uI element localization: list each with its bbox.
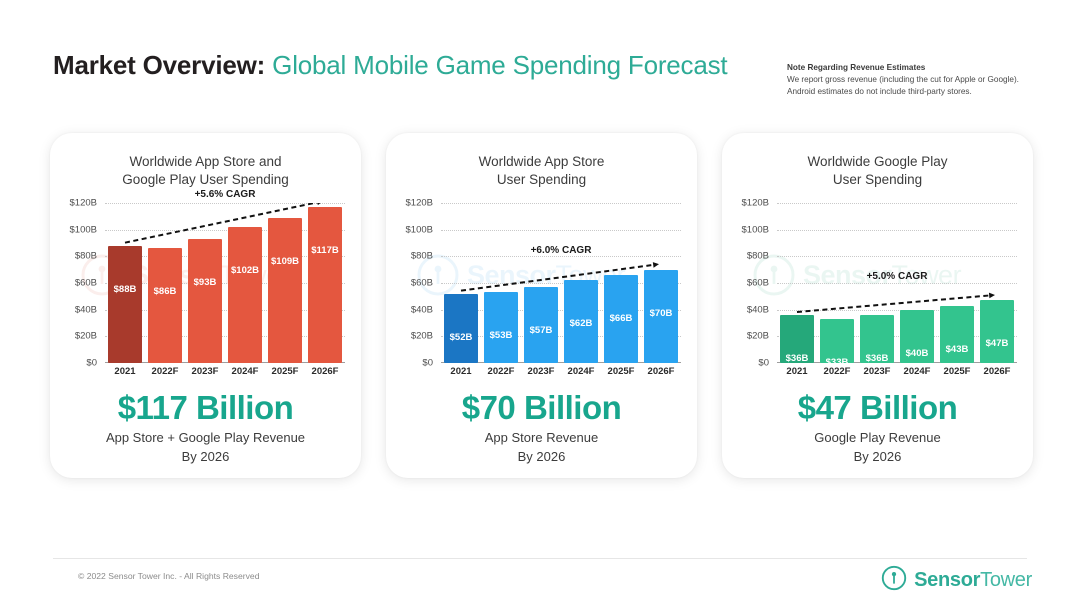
brand-text-bold: Sensor bbox=[914, 569, 980, 591]
x-axis-tick-label: 2026F bbox=[641, 366, 681, 377]
x-axis-tick-label: 2022F bbox=[145, 366, 185, 377]
card-summary: $47 Billion Google Play Revenue By 2026 bbox=[722, 388, 1033, 466]
card-summary: $117 Billion App Store + Google Play Rev… bbox=[50, 388, 361, 466]
x-axis-tick-label: 2025F bbox=[265, 366, 305, 377]
bar bbox=[444, 294, 478, 363]
brand-text-light: Tower bbox=[980, 569, 1032, 591]
y-axis-tick-label: $0 bbox=[422, 358, 433, 369]
forecast-card-combined: Worldwide App Store and Google Play User… bbox=[50, 133, 361, 478]
bar bbox=[980, 300, 1014, 363]
forecast-card-app-store: Worldwide App Store User Spending Sensor… bbox=[386, 133, 697, 478]
x-axis-tick-label: 2025F bbox=[601, 366, 641, 377]
card-title-line-2: User Spending bbox=[386, 171, 697, 189]
summary-sub-line-1: App Store Revenue bbox=[386, 428, 697, 447]
page-header: Market Overview: Global Mobile Game Spen… bbox=[0, 0, 1080, 118]
x-axis-tick-label: 2023F bbox=[185, 366, 225, 377]
x-axis-tick-label: 2021 bbox=[777, 366, 817, 377]
bar bbox=[148, 248, 182, 363]
bar-value-label: $109B bbox=[257, 256, 313, 267]
y-axis-tick-label: $100B bbox=[70, 224, 97, 235]
summary-big-number: $117 Billion bbox=[50, 388, 361, 428]
y-axis-tick-label: $0 bbox=[86, 358, 97, 369]
bar-series: $88B$86B$93B$102B$109B$117B bbox=[105, 203, 345, 363]
note-title: Note Regarding Revenue Estimates bbox=[787, 62, 1057, 74]
chart-google-play: $0$20B$40B$60B$80B$100B$120B $36B$33B$36… bbox=[722, 203, 1033, 383]
x-axis-tick-label: 2023F bbox=[521, 366, 561, 377]
summary-sub-line-1: Google Play Revenue bbox=[722, 428, 1033, 447]
x-axis-tick-label: 2023F bbox=[857, 366, 897, 377]
x-axis-tick-label: 2024F bbox=[561, 366, 601, 377]
card-summary: $70 Billion App Store Revenue By 2026 bbox=[386, 388, 697, 466]
chart-combined: $0$20B$40B$60B$80B$100B$120B $88B$86B$93… bbox=[50, 203, 361, 383]
summary-sub-line-2: By 2026 bbox=[386, 447, 697, 466]
y-axis: $0$20B$40B$60B$80B$100B$120B bbox=[50, 203, 102, 363]
x-axis-tick-label: 2022F bbox=[481, 366, 521, 377]
sensor-tower-brand: SensorTower bbox=[881, 565, 1032, 596]
revenue-estimates-note: Note Regarding Revenue Estimates We repo… bbox=[787, 62, 1057, 97]
chart-app-store: $0$20B$40B$60B$80B$100B$120B $52B$53B$57… bbox=[386, 203, 697, 383]
y-axis-tick-label: $20B bbox=[411, 331, 433, 342]
card-title: Worldwide App Store and Google Play User… bbox=[50, 153, 361, 189]
summary-big-number: $70 Billion bbox=[386, 388, 697, 428]
y-axis-tick-label: $0 bbox=[758, 358, 769, 369]
bar bbox=[308, 207, 342, 363]
footer-divider bbox=[53, 558, 1027, 559]
y-axis-tick-label: $80B bbox=[75, 251, 97, 262]
cagr-label: +5.6% CAGR bbox=[177, 189, 273, 200]
x-axis-tick-label: 2024F bbox=[897, 366, 937, 377]
note-line-2: Android estimates do not include third-p… bbox=[787, 86, 1057, 98]
y-axis-tick-label: $100B bbox=[406, 224, 433, 235]
sensor-tower-logo-icon bbox=[881, 565, 907, 596]
bar-value-label: $70B bbox=[633, 308, 689, 319]
x-axis-labels: 20212022F2023F2024F2025F2026F bbox=[105, 366, 345, 382]
y-axis: $0$20B$40B$60B$80B$100B$120B bbox=[386, 203, 438, 363]
bar bbox=[188, 239, 222, 363]
card-title-line-2: Google Play User Spending bbox=[50, 171, 361, 189]
card-title-line-1: Worldwide Google Play bbox=[722, 153, 1033, 171]
x-axis-tick-label: 2025F bbox=[937, 366, 977, 377]
card-title: Worldwide Google Play User Spending bbox=[722, 153, 1033, 189]
y-axis-tick-label: $60B bbox=[747, 278, 769, 289]
x-axis-tick-label: 2021 bbox=[441, 366, 481, 377]
y-axis-tick-label: $60B bbox=[411, 278, 433, 289]
summary-big-number: $47 Billion bbox=[722, 388, 1033, 428]
copyright-text: © 2022 Sensor Tower Inc. - All Rights Re… bbox=[78, 571, 259, 581]
note-line-1: We report gross revenue (including the c… bbox=[787, 74, 1057, 86]
bar-series: $36B$33B$36B$40B$43B$47B bbox=[777, 203, 1017, 363]
y-axis-tick-label: $120B bbox=[742, 198, 769, 209]
y-axis-tick-label: $40B bbox=[747, 304, 769, 315]
card-title-line-1: Worldwide App Store bbox=[386, 153, 697, 171]
page-title-light: Global Mobile Game Spending Forecast bbox=[272, 50, 727, 80]
x-axis-tick-label: 2021 bbox=[105, 366, 145, 377]
y-axis-tick-label: $120B bbox=[70, 198, 97, 209]
y-axis-tick-label: $40B bbox=[75, 304, 97, 315]
page-footer: © 2022 Sensor Tower Inc. - All Rights Re… bbox=[0, 520, 1080, 608]
forecast-card-google-play: Worldwide Google Play User Spending Sens… bbox=[722, 133, 1033, 478]
x-axis-tick-label: 2026F bbox=[305, 366, 345, 377]
bar-value-label: $93B bbox=[177, 277, 233, 288]
y-axis: $0$20B$40B$60B$80B$100B$120B bbox=[722, 203, 774, 363]
bar-value-label: $117B bbox=[297, 245, 353, 256]
y-axis-tick-label: $20B bbox=[75, 331, 97, 342]
x-axis-tick-label: 2022F bbox=[817, 366, 857, 377]
summary-sub-line-2: By 2026 bbox=[722, 447, 1033, 466]
bar bbox=[108, 246, 142, 363]
bar-value-label: $47B bbox=[969, 338, 1025, 349]
card-title-line-2: User Spending bbox=[722, 171, 1033, 189]
bar-series: $52B$53B$57B$62B$66B$70B bbox=[441, 203, 681, 363]
summary-sub-line-2: By 2026 bbox=[50, 447, 361, 466]
y-axis-tick-label: $60B bbox=[75, 278, 97, 289]
bar bbox=[268, 218, 302, 363]
y-axis-tick-label: $80B bbox=[411, 251, 433, 262]
x-axis-labels: 20212022F2023F2024F2025F2026F bbox=[441, 366, 681, 382]
y-axis-tick-label: $100B bbox=[742, 224, 769, 235]
x-axis-tick-label: 2026F bbox=[977, 366, 1017, 377]
brand-text: SensorTower bbox=[914, 569, 1032, 592]
x-axis-tick-label: 2024F bbox=[225, 366, 265, 377]
page-title: Market Overview: Global Mobile Game Spen… bbox=[53, 50, 727, 81]
y-axis-tick-label: $120B bbox=[406, 198, 433, 209]
x-axis-labels: 20212022F2023F2024F2025F2026F bbox=[777, 366, 1017, 382]
page-title-bold: Market Overview: bbox=[53, 50, 265, 80]
summary-sub-line-1: App Store + Google Play Revenue bbox=[50, 428, 361, 447]
y-axis-tick-label: $40B bbox=[411, 304, 433, 315]
forecast-cards: Worldwide App Store and Google Play User… bbox=[0, 133, 1080, 483]
y-axis-tick-label: $80B bbox=[747, 251, 769, 262]
card-title-line-1: Worldwide App Store and bbox=[50, 153, 361, 171]
y-axis-tick-label: $20B bbox=[747, 331, 769, 342]
bar bbox=[228, 227, 262, 363]
card-title: Worldwide App Store User Spending bbox=[386, 153, 697, 189]
